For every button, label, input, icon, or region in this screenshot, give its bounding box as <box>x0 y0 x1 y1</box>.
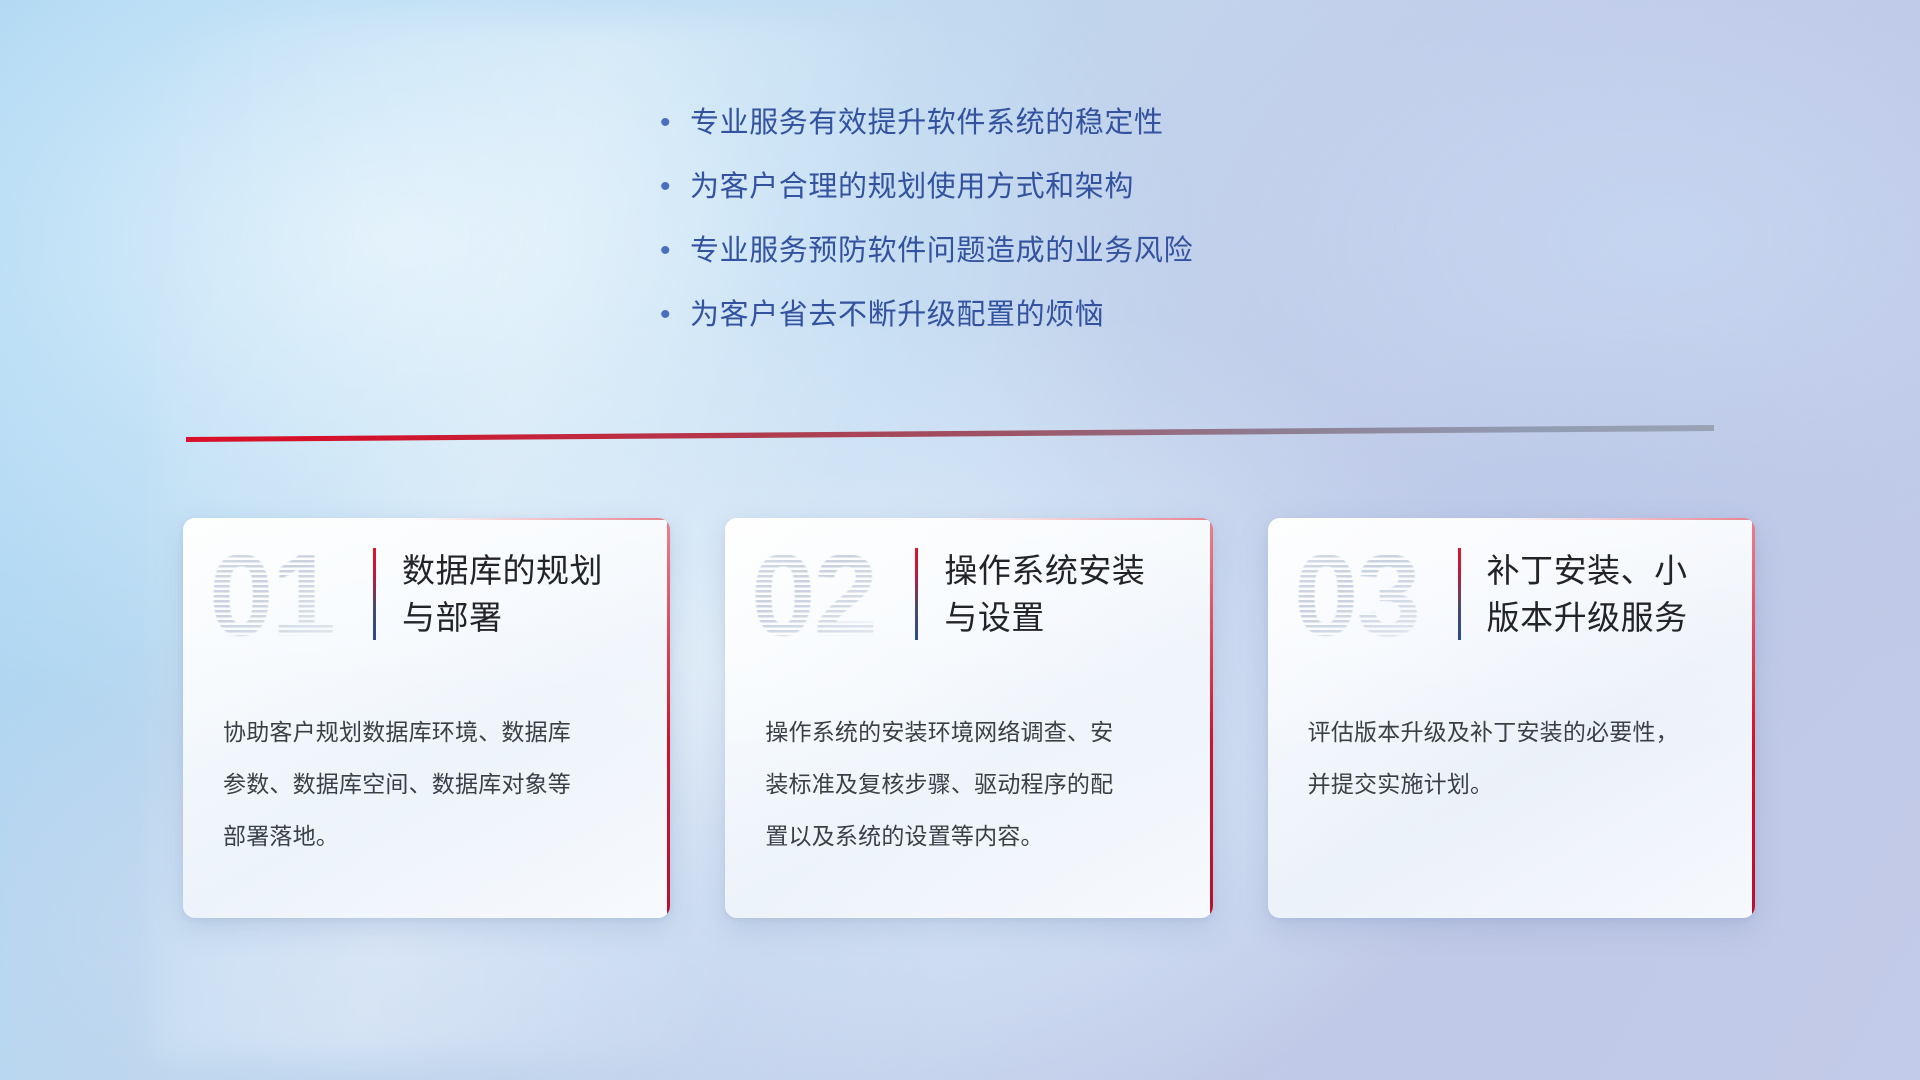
card-title-rule <box>373 548 376 640</box>
card-title: 操作系统安装 与设置 <box>944 547 1145 641</box>
card-number-02-icon: 02 <box>749 535 909 653</box>
bullet-item-label: 专业服务预防软件问题造成的业务风险 <box>690 220 1193 282</box>
section-divider <box>186 425 1714 447</box>
card-title-line: 版本升级服务 <box>1487 594 1688 641</box>
card-title: 数据库的规划 与部署 <box>402 547 603 641</box>
bullet-item-label: 为客户省去不断升级配置的烦恼 <box>690 284 1104 346</box>
card-header: 02 操作系统安装 与设置 <box>725 518 1212 670</box>
card-description: 操作系统的安装环境网络调查、安 装标准及复核步骤、驱动程序的配 置以及系统的设置… <box>725 670 1212 862</box>
card-description-line: 装标准及复核步骤、驱动程序的配 <box>765 758 1172 810</box>
card-header: 01 数据库的规划 与部署 <box>183 518 670 670</box>
bullet-dot-icon: • <box>660 92 690 154</box>
service-card-list: 01 数据库的规划 与部署 协助客户规划数据库环境、数据库 参数、数据库空间、数… <box>183 518 1755 918</box>
card-description: 协助客户规划数据库环境、数据库 参数、数据库空间、数据库对象等 部署落地。 <box>183 670 670 862</box>
bullet-dot-icon: • <box>660 156 690 218</box>
card-number-02-text: 02 <box>751 535 876 653</box>
card-title-line: 与设置 <box>944 594 1145 641</box>
card-number-01-icon: 01 <box>207 535 367 653</box>
card-description-line: 评估版本升级及补丁安装的必要性， <box>1308 706 1715 758</box>
card-number-01-text: 01 <box>209 535 334 653</box>
card-number-graphic: 01 <box>207 535 367 653</box>
card-number-03-icon: 03 <box>1292 535 1452 653</box>
card-header: 03 补丁安装、小 版本升级服务 <box>1268 518 1755 670</box>
card-title-rule <box>1458 548 1461 640</box>
bullet-dot-icon: • <box>660 284 690 346</box>
card-number-03-text: 03 <box>1294 535 1419 653</box>
bullet-item: • 为客户省去不断升级配置的烦恼 <box>660 284 1420 348</box>
card-number-graphic: 03 <box>1292 535 1452 653</box>
service-card[interactable]: 01 数据库的规划 与部署 协助客户规划数据库环境、数据库 参数、数据库空间、数… <box>183 518 670 918</box>
card-title-line: 与部署 <box>402 594 603 641</box>
bullet-dot-icon: • <box>660 220 690 282</box>
benefits-bullet-list: • 专业服务有效提升软件系统的稳定性 • 为客户合理的规划使用方式和架构 • 专… <box>660 92 1420 348</box>
bullet-item: • 专业服务有效提升软件系统的稳定性 <box>660 92 1420 156</box>
bullet-item-label: 专业服务有效提升软件系统的稳定性 <box>690 92 1164 154</box>
card-description-line: 操作系统的安装环境网络调查、安 <box>765 706 1172 758</box>
card-title-line: 补丁安装、小 <box>1487 547 1688 594</box>
card-description-line: 协助客户规划数据库环境、数据库 <box>223 706 630 758</box>
bullet-item-label: 为客户合理的规划使用方式和架构 <box>690 156 1134 218</box>
service-card[interactable]: 03 补丁安装、小 版本升级服务 评估版本升级及补丁安装的必要性， 并提交实施计… <box>1268 518 1755 918</box>
card-title-rule <box>915 548 918 640</box>
card-title: 补丁安装、小 版本升级服务 <box>1487 547 1688 641</box>
bullet-item: • 为客户合理的规划使用方式和架构 <box>660 156 1420 220</box>
section-divider-shape <box>186 425 1714 447</box>
card-description: 评估版本升级及补丁安装的必要性， 并提交实施计划。 <box>1268 670 1755 810</box>
card-title-line: 操作系统安装 <box>944 547 1145 594</box>
card-number-graphic: 02 <box>749 535 909 653</box>
card-description-line: 置以及系统的设置等内容。 <box>765 810 1172 862</box>
service-card[interactable]: 02 操作系统安装 与设置 操作系统的安装环境网络调查、安 装标准及复核步骤、驱… <box>725 518 1212 918</box>
card-title-line: 数据库的规划 <box>402 547 603 594</box>
bullet-item: • 专业服务预防软件问题造成的业务风险 <box>660 220 1420 284</box>
card-description-line: 参数、数据库空间、数据库对象等 <box>223 758 630 810</box>
card-description-line: 并提交实施计划。 <box>1308 758 1715 810</box>
card-description-line: 部署落地。 <box>223 810 630 862</box>
